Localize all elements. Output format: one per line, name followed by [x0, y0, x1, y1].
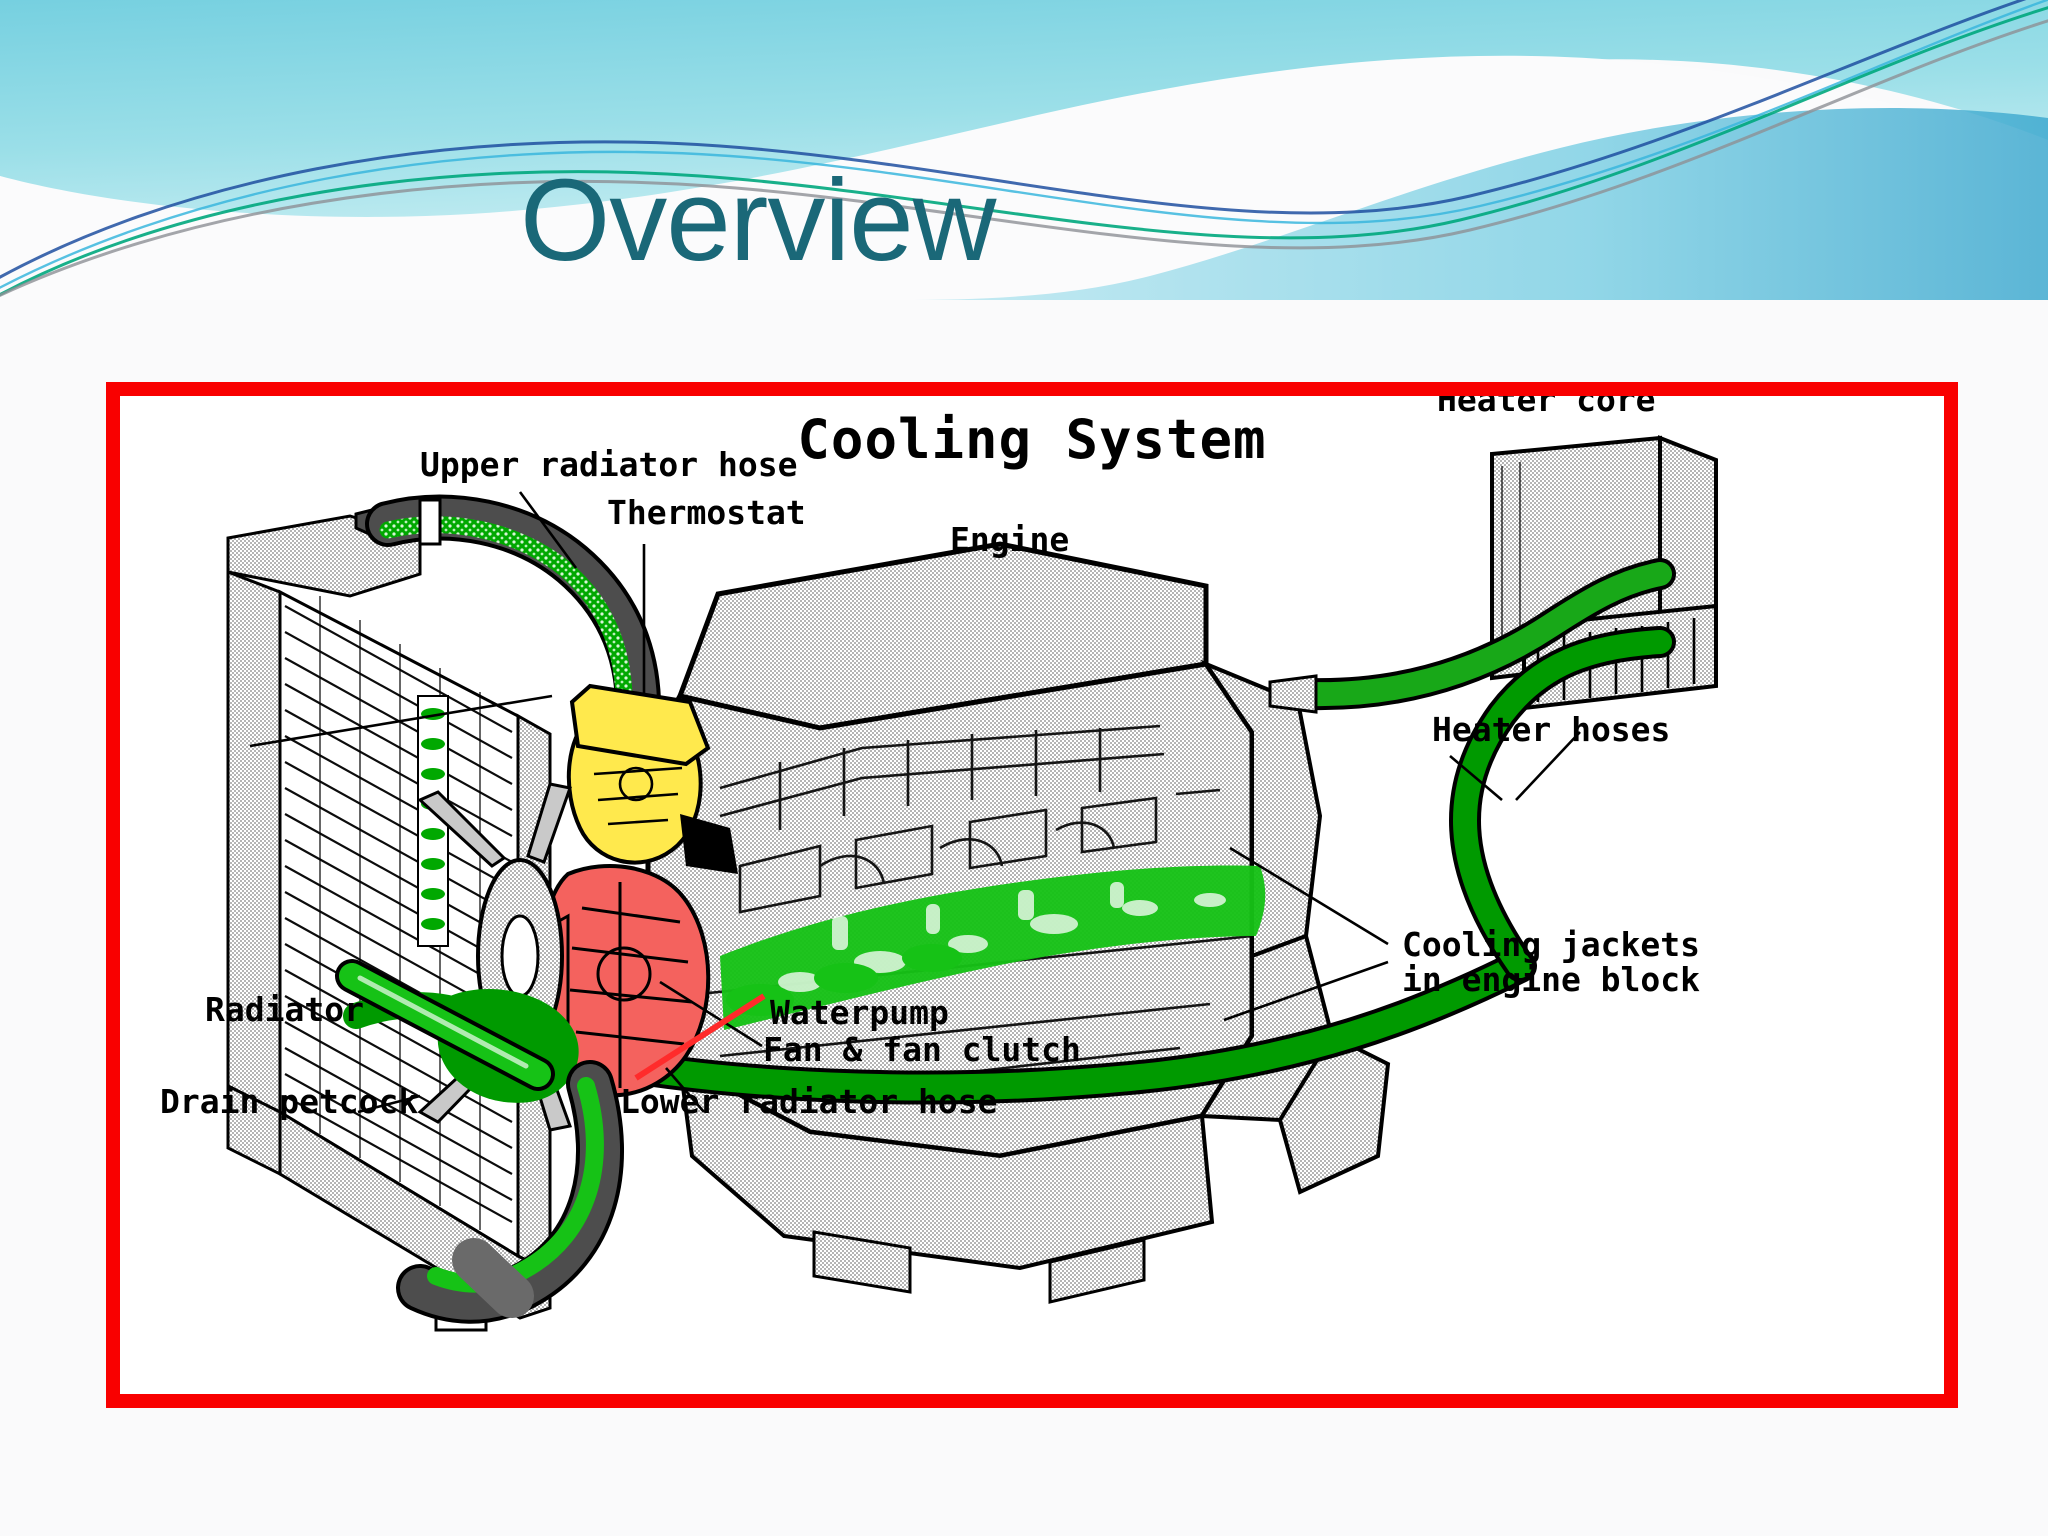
cooling-system-diagram: Cooling System — [120, 396, 1944, 1394]
heater-core-graphic — [1492, 438, 1716, 708]
cooling-system-picture: Cooling System — [120, 396, 1944, 1394]
cooling-system-picture-frame[interactable]: Cooling System — [106, 382, 1958, 1408]
label-engine: Engine — [950, 520, 1069, 559]
label-lower-radiator-hose: Lower radiator hose — [620, 1082, 998, 1121]
label-upper-radiator-hose: Upper radiator hose — [420, 445, 798, 484]
diagram-title-text: Cooling System — [797, 408, 1266, 471]
label-thermostat: Thermostat — [607, 493, 806, 532]
label-radiator: Radiator — [205, 990, 364, 1029]
page-title: Overview — [520, 160, 995, 282]
label-heater-core: Heater core — [1437, 396, 1656, 419]
label-fan-and-fan-clutch: Fan & fan clutch — [763, 1030, 1081, 1069]
label-waterpump: Waterpump — [770, 993, 949, 1032]
label-cooling-jackets-line1: Cooling jackets — [1402, 925, 1700, 964]
presentation-slide: Overview — [0, 0, 2048, 1536]
label-cooling-jackets-line2: in engine block — [1402, 960, 1700, 999]
label-drain-petcock: Drain petcock — [160, 1082, 418, 1121]
header-wave-decoration — [0, 0, 2048, 300]
label-heater-hoses: Heater hoses — [1432, 710, 1670, 749]
